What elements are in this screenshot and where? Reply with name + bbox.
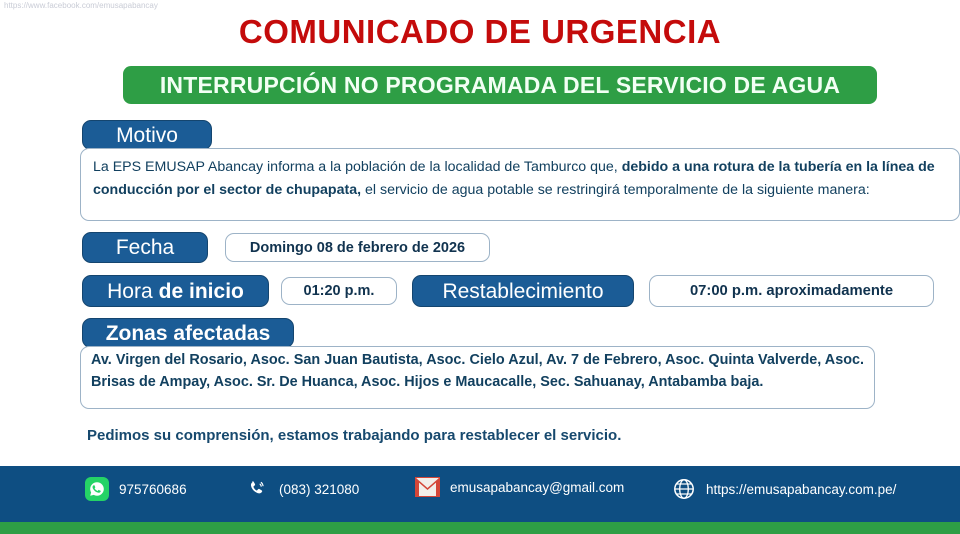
globe-icon	[672, 477, 696, 501]
label-zonas-afectadas: Zonas afectadas	[82, 318, 294, 348]
contact-whatsapp[interactable]: 975760686	[85, 477, 187, 501]
contact-website-text: https://emusapabancay.com.pe/	[706, 482, 896, 497]
closing-message: Pedimos su comprensión, estamos trabajan…	[87, 427, 621, 444]
label-hora-inicio-light: Hora	[107, 281, 153, 302]
contact-phone-text: (083) 321080	[279, 482, 359, 497]
service-interruption-banner: INTERRUPCIÓN NO PROGRAMADA DEL SERVICIO …	[123, 66, 877, 104]
value-zonas-afectadas: Av. Virgen del Rosario, Asoc. San Juan B…	[80, 346, 875, 409]
motivo-text-part1: La EPS EMUSAP Abancay informa a la pobla…	[93, 159, 622, 175]
label-fecha: Fecha	[82, 232, 208, 263]
contact-whatsapp-text: 975760686	[119, 482, 187, 497]
label-hora-inicio: Horade inicio	[82, 275, 269, 307]
contact-website[interactable]: https://emusapabancay.com.pe/	[672, 477, 896, 501]
label-hora-inicio-bold: de inicio	[159, 281, 244, 302]
whatsapp-icon	[85, 477, 109, 501]
value-restablecimiento: 07:00 p.m. aproximadamente	[649, 275, 934, 307]
page-artifact-text: https://www.facebook.com/emusapabancay	[4, 1, 254, 10]
contact-email-text: emusapabancay@gmail.com	[450, 480, 624, 495]
label-motivo: Motivo	[82, 120, 212, 150]
label-restablecimiento: Restablecimiento	[412, 275, 634, 307]
value-fecha: Domingo 08 de febrero de 2026	[225, 233, 490, 262]
footer-green-strip	[0, 522, 960, 534]
motivo-text-box: La EPS EMUSAP Abancay informa a la pobla…	[80, 148, 960, 221]
motivo-text-part2: el servicio de agua potable se restringi…	[361, 182, 870, 198]
page-title: COMUNICADO DE URGENCIA	[0, 14, 960, 50]
contact-email[interactable]: emusapabancay@gmail.com	[415, 477, 624, 497]
contact-phone[interactable]: (083) 321080	[245, 477, 359, 501]
value-hora-inicio: 01:20 p.m.	[281, 277, 397, 305]
emergency-notice-poster: https://www.facebook.com/emusapabancay C…	[0, 0, 960, 534]
gmail-icon	[415, 477, 440, 497]
phone-icon	[245, 477, 269, 501]
